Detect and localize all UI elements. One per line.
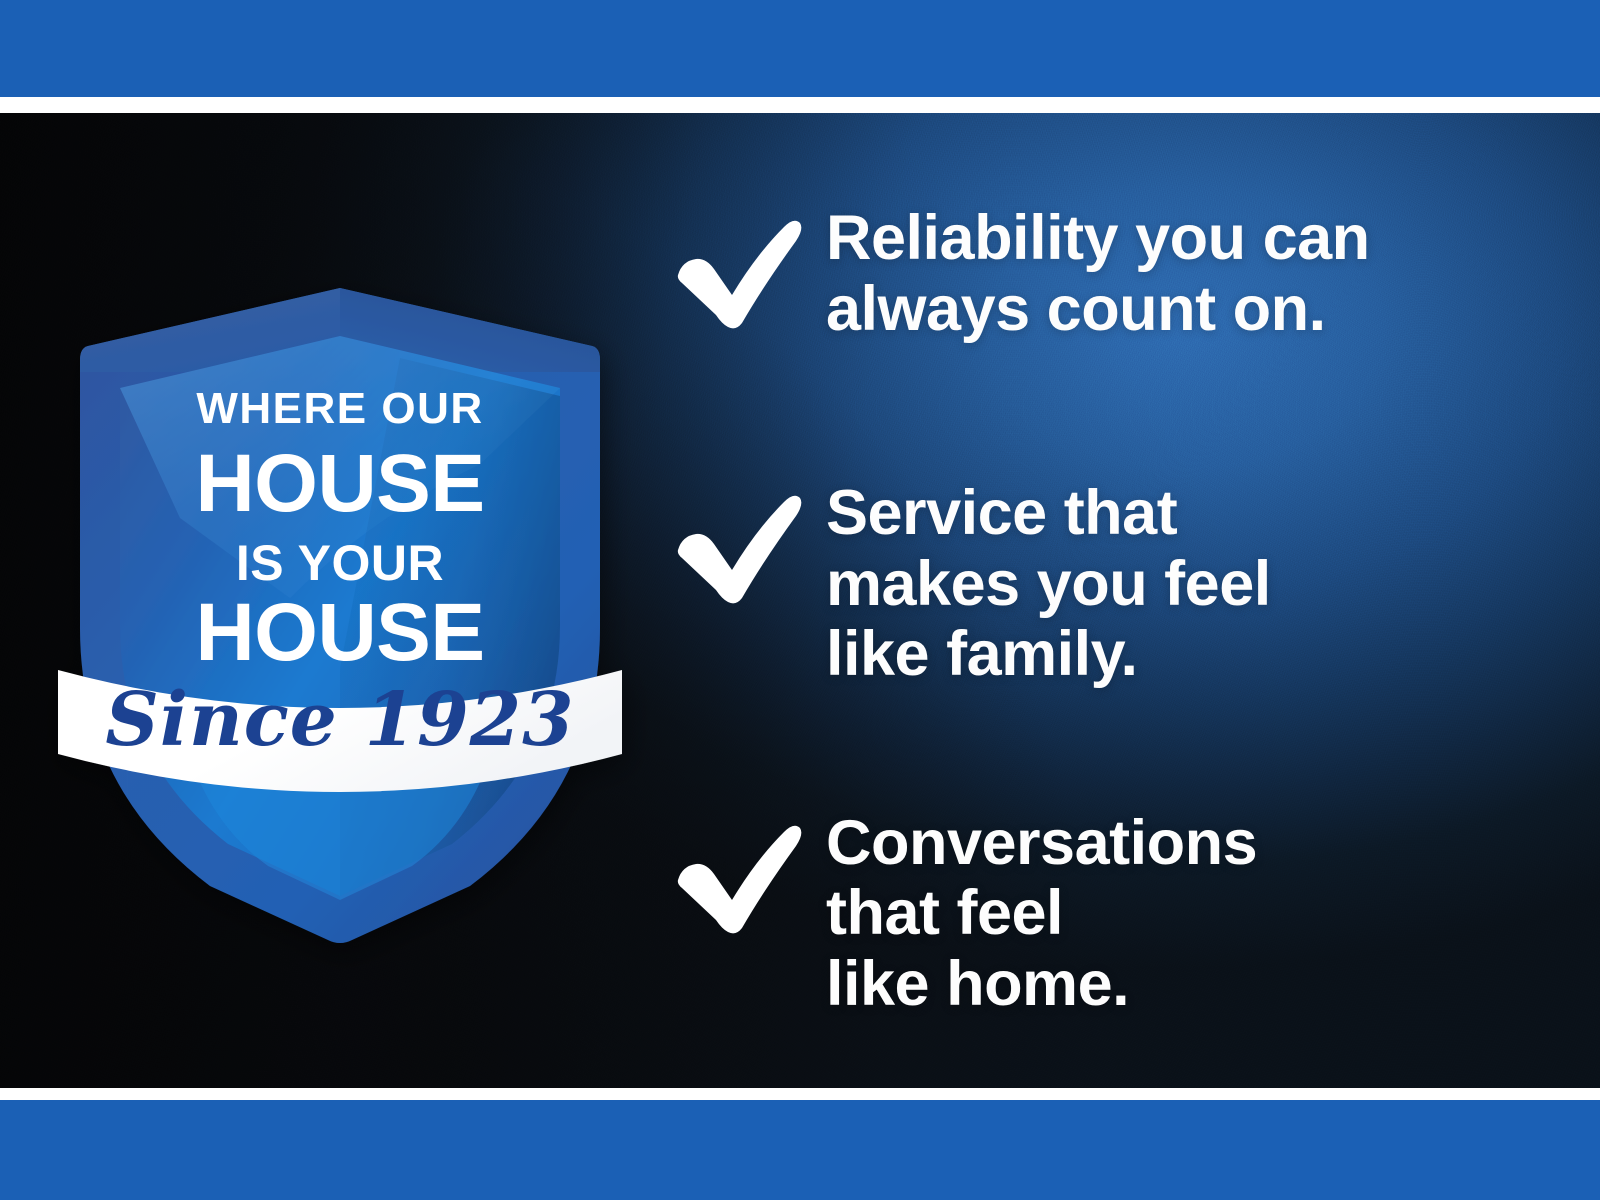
benefit-item: Conversations that feel like home.	[672, 808, 1492, 1020]
promo-poster: WHERE OUR HOUSE IS YOUR HOUSE Since 1923	[0, 0, 1600, 1200]
main-canvas: WHERE OUR HOUSE IS YOUR HOUSE Since 1923	[0, 113, 1600, 1088]
checkmark-icon	[672, 211, 804, 329]
checkmark-icon	[672, 816, 804, 934]
benefit-text: Reliability you can always count on.	[826, 203, 1370, 344]
top-brand-bar	[0, 0, 1600, 97]
benefit-item: Service that makes you feel like family.	[672, 478, 1492, 690]
benefit-text: Conversations that feel like home.	[826, 808, 1257, 1020]
shield-emblem: WHERE OUR HOUSE IS YOUR HOUSE Since 1923	[40, 268, 640, 948]
emblem-line-4: HOUSE	[195, 587, 484, 678]
emblem-line-2: HOUSE	[195, 438, 484, 529]
benefit-item: Reliability you can always count on.	[672, 203, 1492, 344]
benefit-text: Service that makes you feel like family.	[826, 478, 1271, 690]
checkmark-icon	[672, 486, 804, 604]
emblem-line-1: WHERE OUR	[196, 384, 483, 433]
bottom-brand-bar	[0, 1100, 1600, 1200]
benefits-list: Reliability you can always count on. Ser…	[672, 203, 1492, 1019]
emblem-ribbon-text: Since 1923	[105, 677, 574, 763]
emblem-line-3: IS YOUR	[236, 535, 444, 591]
